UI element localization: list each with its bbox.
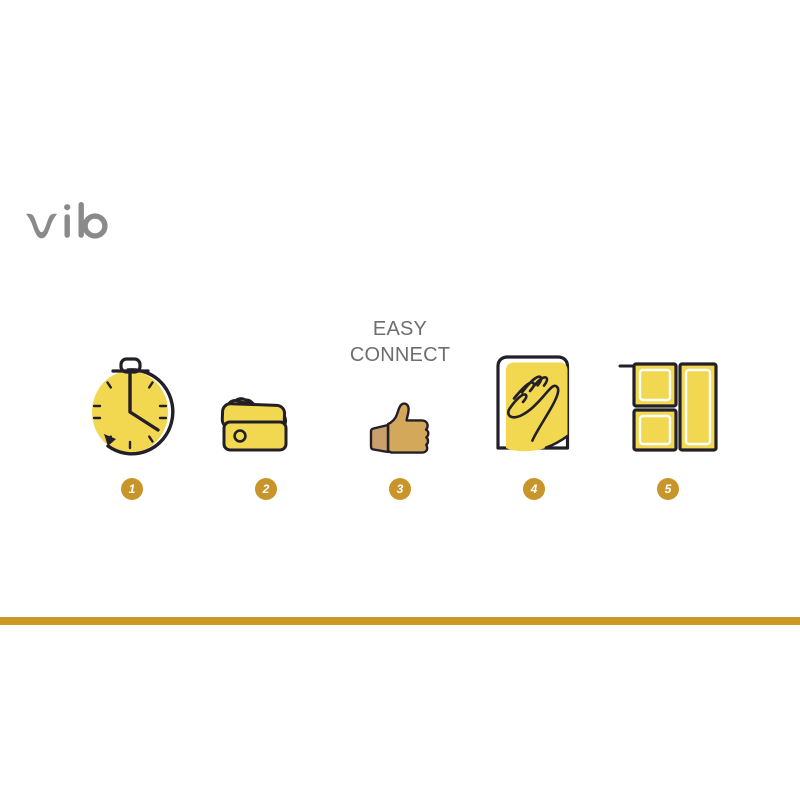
easy-connect-line-2: CONNECT bbox=[338, 342, 462, 368]
easy-connect-label: EASY CONNECT bbox=[338, 316, 462, 369]
feature-art-3: EASY CONNECT bbox=[338, 308, 462, 458]
vilo-wordmark-icon bbox=[22, 200, 142, 250]
brand-logo bbox=[22, 200, 142, 250]
feature-badge-3: 3 bbox=[389, 478, 411, 500]
feature-item-5: 5 bbox=[606, 308, 730, 500]
feature-badge-1: 1 bbox=[121, 478, 143, 500]
feature-strip: 1 bbox=[70, 300, 730, 500]
thumbs-up-icon bbox=[365, 398, 435, 458]
bottom-divider-rule bbox=[0, 617, 800, 625]
color-swatch-fan-icon bbox=[216, 350, 316, 458]
feature-item-1: 1 bbox=[70, 308, 194, 500]
feature-badge-4: 4 bbox=[523, 478, 545, 500]
feature-badge-5: 5 bbox=[657, 478, 679, 500]
feature-badge-2: 2 bbox=[255, 478, 277, 500]
wiping-hand-panel-icon bbox=[482, 352, 586, 458]
feature-item-4: 4 bbox=[472, 308, 596, 500]
slide-canvas: 1 bbox=[0, 0, 800, 800]
panel-layout-icon bbox=[616, 354, 720, 458]
feature-art-1 bbox=[70, 308, 194, 458]
easy-connect-line-1: EASY bbox=[338, 316, 462, 342]
feature-art-4 bbox=[472, 308, 596, 458]
stopwatch-icon bbox=[82, 350, 182, 458]
feature-item-2: 2 bbox=[204, 308, 328, 500]
feature-art-2 bbox=[204, 308, 328, 458]
feature-item-3: EASY CONNECT 3 bbox=[338, 308, 462, 500]
feature-art-5 bbox=[606, 308, 730, 458]
